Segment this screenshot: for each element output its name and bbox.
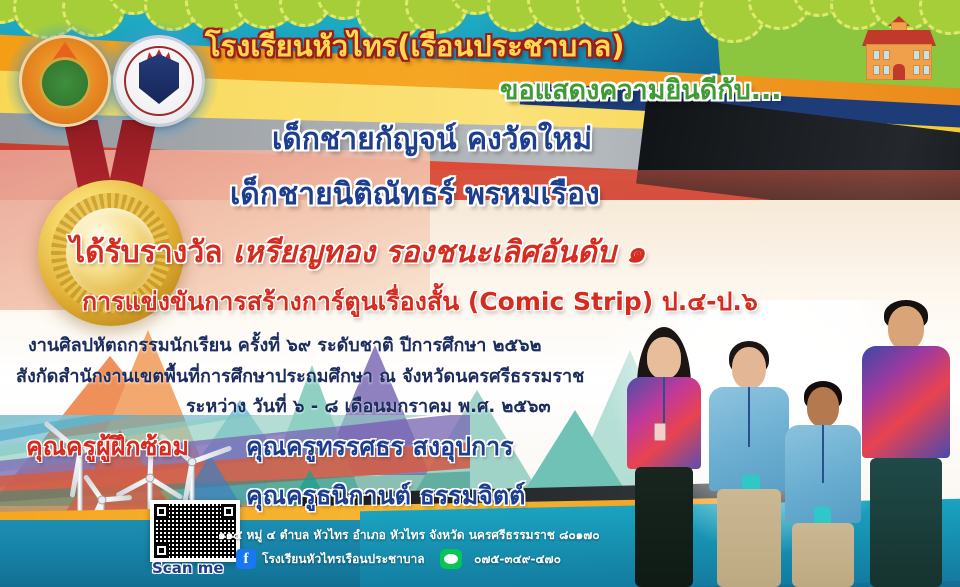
footer-facebook-name[interactable]: โรงเรียนหัวไทรเรือนประชาบาล	[262, 553, 425, 565]
student-name-2: เด็กชายนิติณัทธร์ พรหมเรือง	[230, 180, 600, 210]
person-female-teacher	[618, 319, 710, 587]
event-detail-line-1: งานศิลปหัตถกรรมนักเรียน ครั้งที่ ๖๙ ระดั…	[28, 337, 541, 355]
congratulation-line: ขอแสดงความยินดีกับ...	[500, 77, 782, 104]
facebook-icon[interactable]: f	[236, 549, 256, 569]
school-building-icon	[860, 20, 938, 82]
school-emblem-logo	[116, 38, 202, 124]
award-prefix: ได้รับรางวัล	[70, 235, 233, 270]
student-name-1: เด็กชายกัญจน์ คงวัดใหม่	[272, 125, 592, 155]
congratulations-banner: Scan me โรงเรียนหัวไทร(เรือนประชาบาล) ขอ…	[0, 0, 960, 587]
competition-title: การแข่งขันการสร้างการ์ตูนเรื่องสั้น (Com…	[82, 289, 758, 314]
footer-address: ๑๑๕ หมู่ ๔ ตำบล หัวไทร อำเภอ หัวไทร จังห…	[218, 529, 600, 541]
award-medal-text: เหรียญทอง รองชนะเลิศอันดับ ๑	[233, 235, 645, 270]
line-icon[interactable]	[440, 549, 462, 569]
person-student-2	[778, 339, 868, 587]
event-detail-line-3: ระหว่าง วันที่ ๖ - ๘ เดือนมกราคม พ.ศ. ๒๕…	[186, 398, 551, 416]
qr-caption: Scan me	[152, 561, 224, 576]
award-line: ได้รับรางวัล เหรียญทอง รองชนะเลิศอันดับ …	[70, 238, 645, 268]
coach-label: คุณครูผู้ฝึกซ้อม	[26, 434, 189, 459]
coach-name-2: คุณครูธนิกานต์ ธรรมจิตต์	[246, 483, 525, 508]
header-school-name: โรงเรียนหัวไทร(เรือนประชาบาล)	[205, 32, 625, 61]
group-photo	[610, 300, 960, 587]
coach-name-1: คุณครูทรรศธร สงอุปการ	[246, 434, 514, 459]
obec-emblem-logo	[22, 38, 108, 124]
person-male-teacher	[856, 300, 956, 587]
footer-phone: ๐๗๕-๓๔๙-๔๗๐	[474, 553, 561, 565]
event-detail-line-2: สังกัดสำนักงานเขตพื้นที่การศึกษาประถมศึก…	[16, 368, 584, 386]
